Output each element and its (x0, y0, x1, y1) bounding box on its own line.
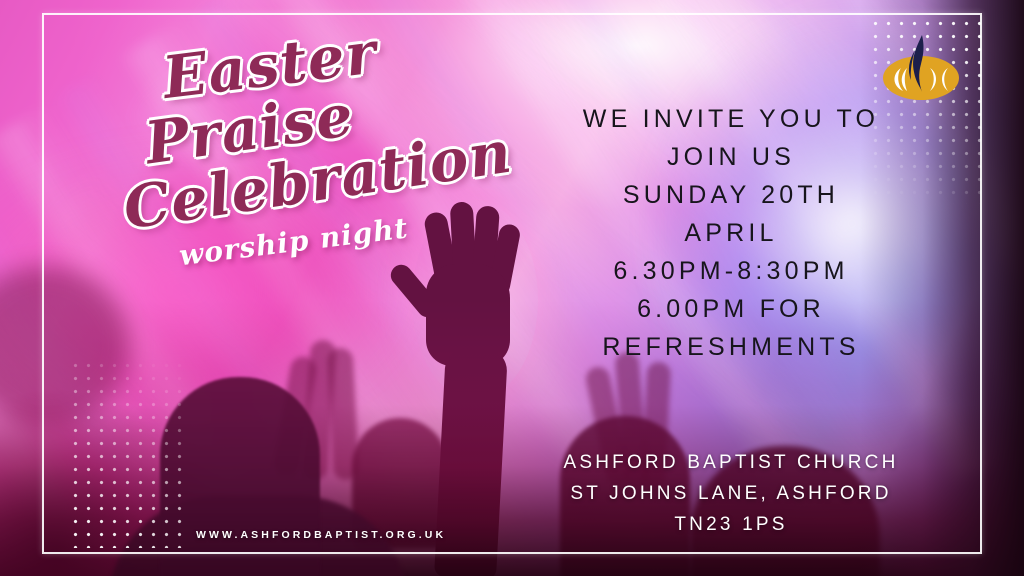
invite-line-2: JOIN US (536, 138, 926, 176)
address-line-street: ST JOHNS LANE, ASHFORD (536, 479, 926, 510)
church-logo (878, 28, 964, 106)
invite-line-6: 6.00PM FOR (536, 290, 926, 328)
invite-line-4: APRIL (536, 214, 926, 252)
invitation-text-block: WE INVITE YOU TO JOIN US SUNDAY 20TH APR… (536, 100, 926, 366)
address-line-church: ASHFORD BAPTIST CHURCH (536, 448, 926, 479)
address-block: ASHFORD BAPTIST CHURCH ST JOHNS LANE, AS… (536, 448, 926, 540)
address-line-postcode: TN23 1PS (536, 510, 926, 541)
invite-line-1: WE INVITE YOU TO (536, 100, 926, 138)
invite-line-7: REFRESHMENTS (536, 328, 926, 366)
website-url[interactable]: WWW.ASHFORDBAPTIST.ORG.UK (196, 529, 446, 541)
easter-praise-flyer: Easter Praise Celebration worship night … (0, 0, 1024, 576)
dot-grid-bottom-left (66, 356, 188, 548)
invite-line-3: SUNDAY 20TH (536, 176, 926, 214)
invite-line-5: 6.30PM-8:30PM (536, 252, 926, 290)
logo-graphic (878, 28, 964, 106)
